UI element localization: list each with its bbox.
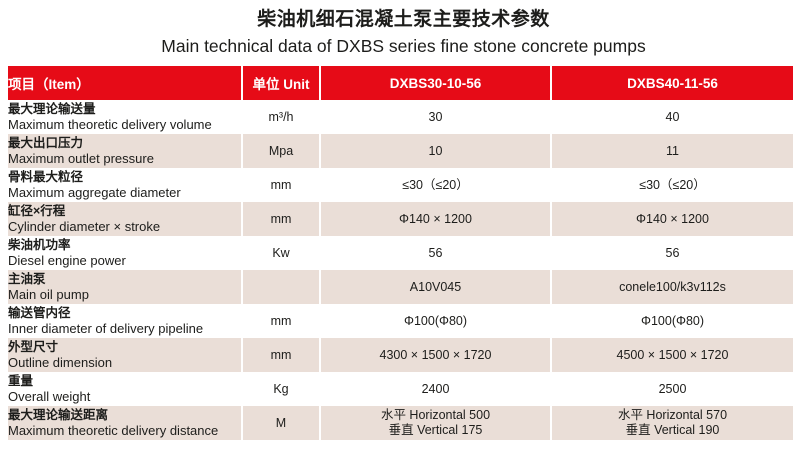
table-body: 最大理论输送量 Maximum theoretic delivery volum… <box>8 100 793 440</box>
table-row: 最大理论输送距离 Maximum theoretic delivery dist… <box>8 406 793 440</box>
row-label-cell: 输送管内径 Inner diameter of delivery pipelin… <box>8 304 242 338</box>
row-value-model-2-line-2: 垂直 Vertical 190 <box>552 423 793 438</box>
spec-table-container: 项目（Item） 单位 Unit DXBS30-10-56 DXBS40-11-… <box>8 66 793 440</box>
row-label-english: Maximum aggregate diameter <box>8 185 241 200</box>
page-title-english: Main technical data of DXBS series fine … <box>0 34 807 58</box>
row-value-model-1-line-2: 垂直 Vertical 175 <box>321 423 550 438</box>
column-header-model-1: DXBS30-10-56 <box>320 66 551 100</box>
table-row: 最大出口压力 Maximum outlet pressure Mpa 10 11 <box>8 134 793 168</box>
table-row: 重量 Overall weight Kg 2400 2500 <box>8 372 793 406</box>
row-value-model-2: Φ100(Φ80) <box>551 304 793 338</box>
column-header-item: 项目（Item） <box>8 66 242 100</box>
page-title-chinese: 柴油机细石混凝土泵主要技术参数 <box>0 7 807 33</box>
row-unit-cell: mm <box>242 168 320 202</box>
row-unit-cell: Mpa <box>242 134 320 168</box>
row-label-cell: 最大理论输送量 Maximum theoretic delivery volum… <box>8 100 242 134</box>
row-value-model-2: 2500 <box>551 372 793 406</box>
row-label-cell: 最大理论输送距离 Maximum theoretic delivery dist… <box>8 406 242 440</box>
row-value-model-1: 30 <box>320 100 551 134</box>
row-value-model-1: A10V045 <box>320 270 551 304</box>
row-value-model-1: 2400 <box>320 372 551 406</box>
row-unit-cell <box>242 270 320 304</box>
row-unit-cell: mm <box>242 338 320 372</box>
row-value-model-2: 11 <box>551 134 793 168</box>
column-header-unit: 单位 Unit <box>242 66 320 100</box>
table-row: 缸径×行程 Cylinder diameter × stroke mm Φ140… <box>8 202 793 236</box>
row-label-english: Main oil pump <box>8 287 241 302</box>
row-label-chinese: 重量 <box>8 374 241 389</box>
row-label-chinese: 缸径×行程 <box>8 204 241 219</box>
title-block: 柴油机细石混凝土泵主要技术参数 Main technical data of D… <box>0 0 807 58</box>
row-value-model-2: conele100/k3v112s <box>551 270 793 304</box>
row-label-cell: 重量 Overall weight <box>8 372 242 406</box>
row-value-model-1: 水平 Horizontal 500 垂直 Vertical 175 <box>320 406 551 440</box>
row-value-model-1: Φ140 × 1200 <box>320 202 551 236</box>
row-label-english: Maximum theoretic delivery volume <box>8 117 241 132</box>
row-unit-cell: Kg <box>242 372 320 406</box>
row-label-english: Maximum theoretic delivery distance <box>8 423 241 438</box>
row-label-chinese: 主油泵 <box>8 272 241 287</box>
row-label-cell: 主油泵 Main oil pump <box>8 270 242 304</box>
row-value-model-2: 水平 Horizontal 570 垂直 Vertical 190 <box>551 406 793 440</box>
row-value-model-1: 10 <box>320 134 551 168</box>
table-row: 骨料最大粒径 Maximum aggregate diameter mm ≤30… <box>8 168 793 202</box>
row-label-english: Overall weight <box>8 389 241 404</box>
row-label-chinese: 输送管内径 <box>8 306 241 321</box>
row-label-chinese: 骨料最大粒径 <box>8 170 241 185</box>
row-value-model-2-line-1: 水平 Horizontal 570 <box>552 408 793 423</box>
row-label-cell: 缸径×行程 Cylinder diameter × stroke <box>8 202 242 236</box>
row-unit-cell: mm <box>242 202 320 236</box>
column-header-model-2: DXBS40-11-56 <box>551 66 793 100</box>
row-label-english: Cylinder diameter × stroke <box>8 219 241 234</box>
row-value-model-2: 56 <box>551 236 793 270</box>
row-unit-cell: mm <box>242 304 320 338</box>
table-row: 主油泵 Main oil pump A10V045 conele100/k3v1… <box>8 270 793 304</box>
row-label-chinese: 外型尺寸 <box>8 340 241 355</box>
row-label-cell: 外型尺寸 Outline dimension <box>8 338 242 372</box>
row-label-english: Outline dimension <box>8 355 241 370</box>
spec-sheet-page: 柴油机细石混凝土泵主要技术参数 Main technical data of D… <box>0 0 807 457</box>
row-unit-cell: m³/h <box>242 100 320 134</box>
row-label-english: Inner diameter of delivery pipeline <box>8 321 241 336</box>
row-value-model-2: ≤30（≤20） <box>551 168 793 202</box>
row-value-model-2: 4500 × 1500 × 1720 <box>551 338 793 372</box>
row-label-cell: 最大出口压力 Maximum outlet pressure <box>8 134 242 168</box>
table-row: 输送管内径 Inner diameter of delivery pipelin… <box>8 304 793 338</box>
row-value-model-1: Φ100(Φ80) <box>320 304 551 338</box>
row-value-model-2: Φ140 × 1200 <box>551 202 793 236</box>
row-value-model-1-line-1: 水平 Horizontal 500 <box>321 408 550 423</box>
row-label-chinese: 柴油机功率 <box>8 238 241 253</box>
table-row: 外型尺寸 Outline dimension mm 4300 × 1500 × … <box>8 338 793 372</box>
row-label-chinese: 最大理论输送距离 <box>8 408 241 423</box>
row-label-chinese: 最大理论输送量 <box>8 102 241 117</box>
row-label-english: Diesel engine power <box>8 253 241 268</box>
row-label-english: Maximum outlet pressure <box>8 151 241 166</box>
row-value-model-1: ≤30（≤20） <box>320 168 551 202</box>
table-header: 项目（Item） 单位 Unit DXBS30-10-56 DXBS40-11-… <box>8 66 793 100</box>
technical-data-table: 项目（Item） 单位 Unit DXBS30-10-56 DXBS40-11-… <box>8 66 793 440</box>
row-value-model-2: 40 <box>551 100 793 134</box>
row-value-model-1: 56 <box>320 236 551 270</box>
row-label-chinese: 最大出口压力 <box>8 136 241 151</box>
row-unit-cell: M <box>242 406 320 440</box>
row-value-model-1: 4300 × 1500 × 1720 <box>320 338 551 372</box>
row-label-cell: 骨料最大粒径 Maximum aggregate diameter <box>8 168 242 202</box>
table-row: 最大理论输送量 Maximum theoretic delivery volum… <box>8 100 793 134</box>
table-row: 柴油机功率 Diesel engine power Kw 56 56 <box>8 236 793 270</box>
table-header-row: 项目（Item） 单位 Unit DXBS30-10-56 DXBS40-11-… <box>8 66 793 100</box>
row-label-cell: 柴油机功率 Diesel engine power <box>8 236 242 270</box>
row-unit-cell: Kw <box>242 236 320 270</box>
